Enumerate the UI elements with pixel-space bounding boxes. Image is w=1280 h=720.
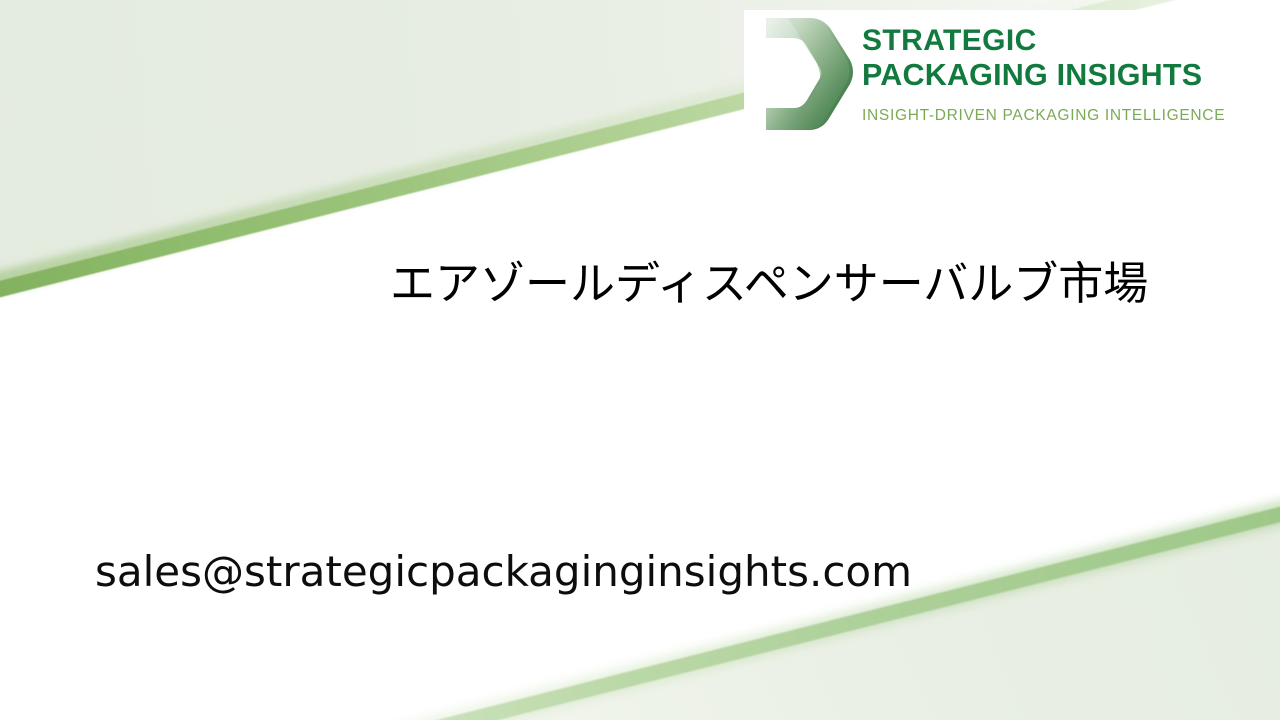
page-title: エアゾールディスペンサーバルブ市場	[390, 255, 1280, 313]
logo-line-packaging-insights: PACKAGING INSIGHTS	[862, 58, 1274, 92]
chevron-arrow-icon	[764, 16, 854, 132]
company-logo: STRATEGIC PACKAGING INSIGHTS INSIGHT-DRI…	[744, 10, 1280, 138]
logo-line-strategic: STRATEGIC	[862, 24, 1274, 58]
logo-wordmark: STRATEGIC PACKAGING INSIGHTS INSIGHT-DRI…	[862, 24, 1274, 125]
title-slide: STRATEGIC PACKAGING INSIGHTS INSIGHT-DRI…	[0, 0, 1280, 720]
contact-email: sales@strategicpackaginginsights.com	[95, 545, 912, 599]
logo-tagline: INSIGHT-DRIVEN PACKAGING INTELLIGENCE	[862, 107, 1274, 125]
